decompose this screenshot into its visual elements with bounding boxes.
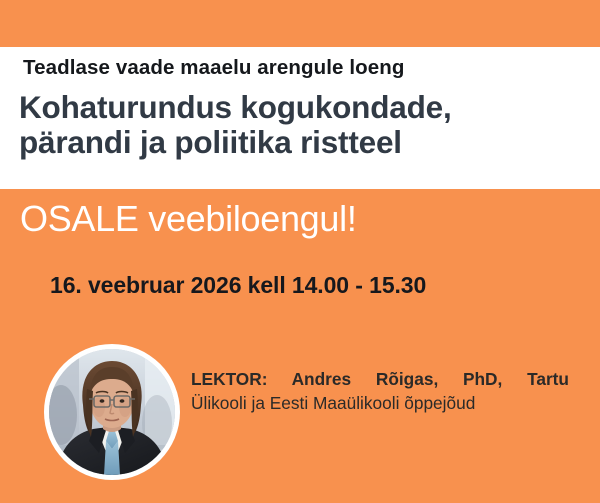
lecturer-line-2: Ülikooli ja Eesti Maaülikooli õppejõud [191, 392, 569, 416]
event-date-time: 16. veebruar 2026 kell 14.00 - 15.30 [50, 272, 426, 299]
headline-line-1: Kohaturundus kogukondade, [19, 89, 452, 125]
lecturer-line-1: LEKTOR: Andres Rõigas, PhD, Tartu [191, 368, 569, 392]
lecturer-portrait [44, 344, 180, 480]
call-to-action-text: OSALE veebiloengul! [20, 198, 357, 240]
portrait-photo-illustration [49, 349, 175, 475]
portrait-image-clip [49, 349, 175, 475]
event-poster: Teadlase vaade maaelu arengule loeng Koh… [0, 0, 600, 503]
headline-line-2: pärandi ja poliitika ristteel [19, 125, 579, 160]
lecturer-info: LEKTOR: Andres Rõigas, PhD, Tartu Ülikoo… [191, 368, 569, 415]
poster-headline: Kohaturundus kogukondade, pärandi ja pol… [19, 90, 579, 161]
poster-eyebrow-text: Teadlase vaade maaelu arengule loeng [23, 56, 405, 80]
